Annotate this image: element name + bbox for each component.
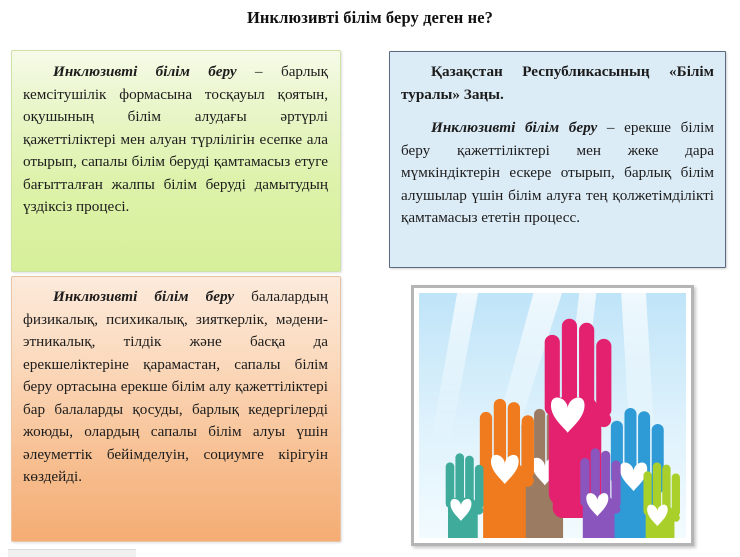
green-box-body-text: – барлық кемсітушілік формасына тосқауыл…	[23, 63, 328, 215]
page-title: Инклюзивті білім беру деген не?	[0, 8, 740, 28]
definition-box-green: Инклюзивті білім беру – барлық кемсітуші…	[11, 50, 341, 272]
raised-hands-with-hearts-icon	[419, 293, 686, 538]
definition-box-orange: Инклюзивті білім беру балалардың физикал…	[11, 276, 341, 542]
bottom-edge-strip	[8, 549, 136, 557]
law-citation-box-blue: Қазақстан Республикасының «Білім туралы»…	[389, 51, 726, 268]
blue-box-lead-term: Инклюзивті білім беру	[431, 119, 597, 136]
orange-box-paragraph: Инклюзивті білім беру балалардың физикал…	[23, 286, 328, 489]
blue-box-paragraph: Инклюзивті білім беру – ерекше білім бер…	[401, 117, 714, 230]
blue-box-heading: Қазақстан Республикасының «Білім туралы»…	[401, 61, 714, 106]
orange-box-body-text: балалардың физикалық, психикалық, зиятке…	[23, 288, 328, 485]
green-box-lead-term: Инклюзивті білім беру	[53, 63, 237, 80]
hands-illustration-frame	[411, 285, 694, 546]
orange-box-lead-term: Инклюзивті білім беру	[53, 288, 234, 305]
green-box-paragraph: Инклюзивті білім беру – барлық кемсітуші…	[23, 61, 328, 219]
